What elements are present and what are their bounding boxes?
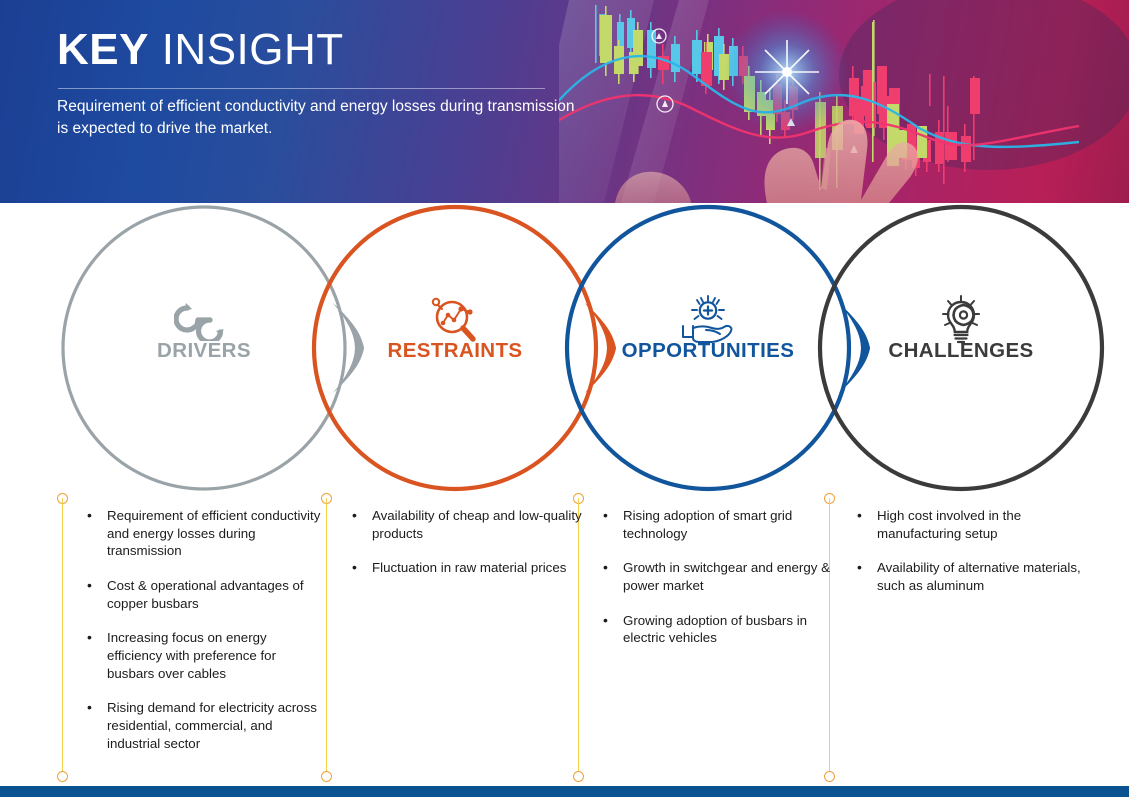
- column-challenges: High cost involved in the manufacturing …: [855, 507, 1105, 612]
- circle-label-drivers[interactable]: DRIVERS: [157, 339, 251, 363]
- candlestick-chart-artwork: [559, 0, 1129, 203]
- title-divider: [58, 88, 545, 89]
- column-divider-2: [321, 493, 332, 782]
- bullet-list-opportunities: Rising adoption of smart grid technology…: [601, 507, 837, 647]
- page-title: KEY INSIGHT: [57, 28, 344, 72]
- divider-dot-bottom: [57, 771, 68, 782]
- list-item: Increasing focus on energy efficiency wi…: [85, 629, 321, 682]
- column-restraints: Availability of cheap and low-quality pr…: [350, 507, 586, 594]
- list-item: Growth in switchgear and energy & power …: [601, 559, 837, 594]
- column-drivers: Requirement of efficient conductivity an…: [85, 507, 321, 769]
- divider-dot-bottom: [321, 771, 332, 782]
- key-insight-infographic: KEY INSIGHT Requirement of efficient con…: [0, 0, 1129, 797]
- list-item: High cost involved in the manufacturing …: [855, 507, 1105, 542]
- column-opportunities: Rising adoption of smart grid technology…: [601, 507, 837, 664]
- list-item: Fluctuation in raw material prices: [350, 559, 586, 577]
- bullet-columns: Requirement of efficient conductivity an…: [0, 493, 1129, 783]
- list-item: Growing adoption of busbars in electric …: [601, 612, 837, 647]
- page-title-light: INSIGHT: [149, 25, 344, 74]
- bullet-list-drivers: Requirement of efficient conductivity an…: [85, 507, 321, 752]
- list-item: Requirement of efficient conductivity an…: [85, 507, 321, 560]
- list-item: Availability of cheap and low-quality pr…: [350, 507, 586, 542]
- list-item: Availability of alternative materials, s…: [855, 559, 1105, 594]
- circle-label-challenges[interactable]: CHALLENGES: [888, 339, 1033, 363]
- divider-line: [62, 498, 63, 776]
- list-item: Rising demand for electricity across res…: [85, 699, 321, 752]
- divider-dot-bottom: [824, 771, 835, 782]
- footer-bar: [0, 786, 1129, 797]
- list-item: Rising adoption of smart grid technology: [601, 507, 837, 542]
- recycle-loop-icon: [174, 299, 234, 341]
- header-banner: KEY INSIGHT Requirement of efficient con…: [0, 0, 1129, 203]
- page-subtitle: Requirement of efficient conductivity an…: [57, 96, 577, 140]
- circles-band: DRIVERS RESTRAINTS OPPORTUNITIES CHALLEN…: [0, 203, 1129, 493]
- magnifier-chart-icon: [428, 295, 482, 345]
- circle-label-opportunities[interactable]: OPPORTUNITIES: [622, 339, 795, 363]
- page-title-bold: KEY: [57, 25, 149, 74]
- circle-label-restraints[interactable]: RESTRAINTS: [388, 339, 523, 363]
- column-divider-1: [57, 493, 68, 782]
- bullet-list-restraints: Availability of cheap and low-quality pr…: [350, 507, 586, 577]
- bullet-list-challenges: High cost involved in the manufacturing …: [855, 507, 1105, 595]
- divider-line: [326, 498, 327, 776]
- divider-dot-bottom: [573, 771, 584, 782]
- list-item: Cost & operational advantages of copper …: [85, 577, 321, 612]
